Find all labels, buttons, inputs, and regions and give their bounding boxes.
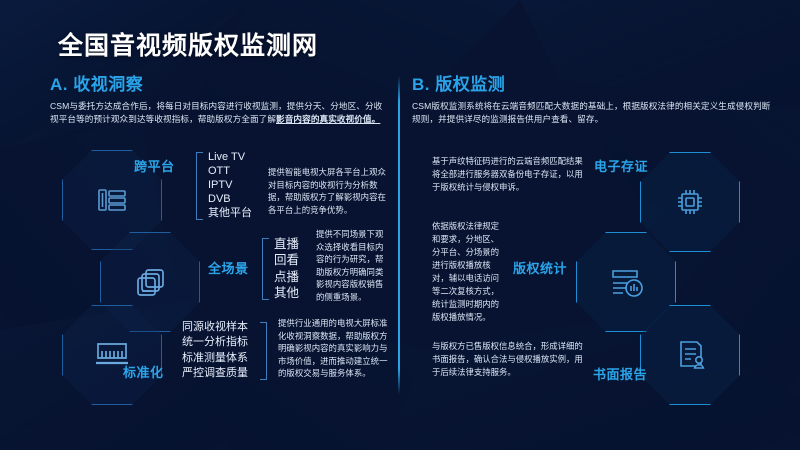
desc-electronic-evidence: 基于声纹特征码进行的云端音频匹配结果将全部进行服务器双备份电子存证，以用于版权统… xyxy=(432,155,584,194)
label-standardization: 标准化 xyxy=(123,362,164,381)
bracket-all-scenarios xyxy=(262,238,269,300)
slide-canvas: 全国音视频版权监测网 A. 收视洞察 CSM与委托方达成合作后，将每日对目标内容… xyxy=(0,0,800,450)
desc-written-report: 与版权方已售版权信息统合，形成详细的书面报告，确认合法与侵权播放实例，用于后续法… xyxy=(432,340,584,379)
list-item: 同源收视样本 xyxy=(182,322,248,334)
page-title: 全国音视频版权监测网 xyxy=(58,26,318,62)
octagon-standardization xyxy=(62,305,162,405)
list-item: 直播 xyxy=(274,238,299,251)
desc-standardization: 提供行业通用的电视大屏标准化收视洞察数据，帮助版权方明确影视内容的真实影响力与市… xyxy=(278,317,390,380)
list-items-all-scenarios: 直播 回看 点播 其他 xyxy=(274,238,299,300)
list-item: 标准测量体系 xyxy=(182,353,248,365)
label-written-report: 书面报告 xyxy=(593,364,647,383)
list-item: 回看 xyxy=(274,254,299,267)
label-electronic-evidence: 电子存证 xyxy=(594,156,648,175)
list-cross-platform: Live TV OTT IPTV DVB 其他平台 xyxy=(196,152,258,220)
label-copyright-statistics: 版权统计 xyxy=(513,258,567,277)
chip-icon xyxy=(641,153,739,251)
list-standardization: 同源收视样本 统一分析指标 标准测量体系 严控调查质量 xyxy=(182,322,268,380)
list-item: 严控调查质量 xyxy=(182,368,248,380)
octagon-written-report xyxy=(640,305,740,405)
label-all-scenarios: 全场景 xyxy=(208,258,249,277)
column-divider xyxy=(398,76,400,394)
footer: SGS UKAS 47 引领受众研究 沟通传媒价值 | Media Indust… xyxy=(0,398,800,450)
bracket-cross-platform xyxy=(196,152,203,220)
list-item: 统一分析指标 xyxy=(182,337,248,349)
left-body-emphasis: 影音内容的真实收视价值。 xyxy=(276,114,380,124)
list-item: DVB xyxy=(208,194,252,206)
desc-copyright-statistics: 依据版权法律规定和要求，分地区、分平台、分场景的进行版权播放核对，辅以电话访问等… xyxy=(432,220,504,324)
right-section-body: CSM版权监测系统将在云端音频匹配大数据的基础上，根据版权法律的相关定义生成侵权… xyxy=(412,100,778,127)
list-item: 点播 xyxy=(274,271,299,284)
list-items-standardization: 同源收视样本 统一分析指标 标准测量体系 严控调查质量 xyxy=(182,322,248,380)
ruler-icon xyxy=(63,306,161,404)
label-cross-platform: 跨平台 xyxy=(134,156,175,175)
desc-all-scenarios: 提供不同场景下观众选择收看目标内容的行为研究，帮助版权方明确同类影视内容版权销售… xyxy=(316,228,390,304)
right-section-heading: B. 版权监测 xyxy=(412,70,792,95)
list-all-scenarios: 直播 回看 点播 其他 xyxy=(262,238,308,300)
left-section-body: CSM与委托方达成合作后，将每日对目标内容进行收视监测，提供分天、分地区、分收视… xyxy=(50,100,390,127)
list-item: IPTV xyxy=(208,180,252,192)
left-section-heading: A. 收视洞察 xyxy=(50,70,398,95)
list-item: OTT xyxy=(208,166,252,178)
desc-cross-platform: 提供智能电视大屏各平台上观众对目标内容的收视行为分析数据，帮助版权方了解影视内容… xyxy=(268,166,388,216)
list-item: 其他 xyxy=(274,287,299,300)
octagon-electronic-evidence xyxy=(640,152,740,252)
bracket-standardization xyxy=(260,322,267,380)
list-item: Live TV xyxy=(208,152,252,164)
list-item: 其他平台 xyxy=(208,208,252,220)
document-person-icon xyxy=(641,306,739,404)
list-items-cross-platform: Live TV OTT IPTV DVB 其他平台 xyxy=(208,152,252,220)
